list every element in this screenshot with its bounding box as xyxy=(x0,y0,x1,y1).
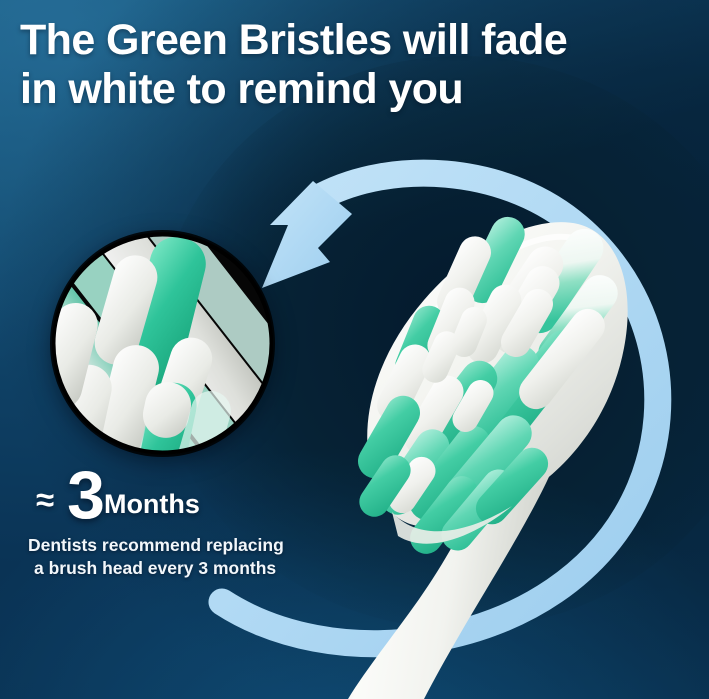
marketing-image-canvas: The Green Bristles will fade in white to… xyxy=(0,0,709,699)
interval-headline: ≈ 3 Months xyxy=(18,462,348,524)
replacement-interval-callout: ≈ 3 Months Dentists recommend replacing … xyxy=(18,462,348,581)
caption-line-2: a brush head every 3 months xyxy=(28,557,348,580)
interval-number: 3 xyxy=(67,466,103,524)
interval-unit: Months xyxy=(104,491,200,524)
magnified-bristle-inset xyxy=(52,232,273,455)
inset-bristle-illustration xyxy=(52,232,273,455)
caption-line-1: Dentists recommend replacing xyxy=(28,534,348,557)
approximately-equal-icon: ≈ xyxy=(18,483,67,524)
headline-line-1: The Green Bristles will fade xyxy=(20,16,567,64)
dentist-recommendation-caption: Dentists recommend replacing a brush hea… xyxy=(18,534,348,581)
headline-line-2: in white to remind you xyxy=(20,65,690,114)
page-title: The Green Bristles will fade in white to… xyxy=(20,16,690,114)
